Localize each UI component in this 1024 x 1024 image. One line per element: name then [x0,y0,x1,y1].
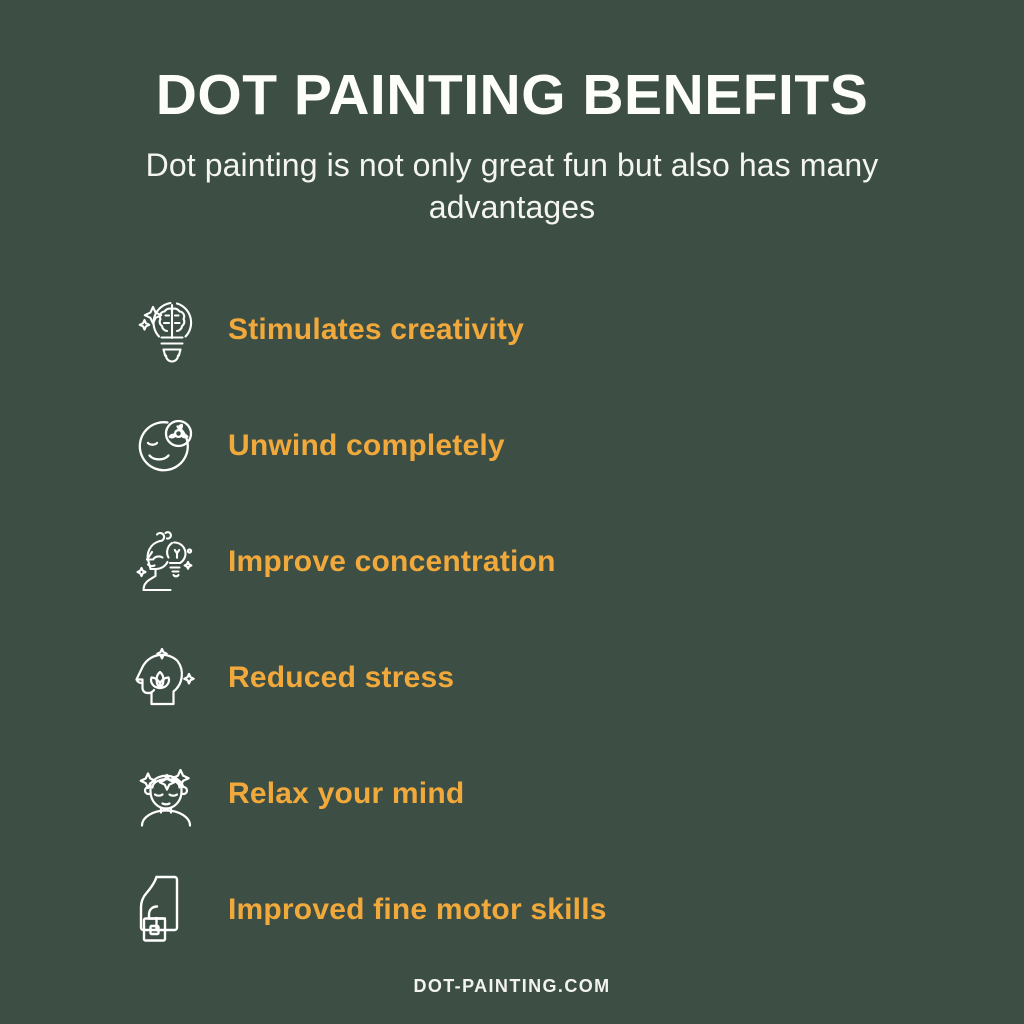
list-item-label: Stimulates creativity [228,315,524,345]
smiling-face-flower-icon [133,406,201,486]
footer-website[interactable]: DOT-PAINTING.COM [0,976,1024,997]
list-item: Improved fine motor skills [133,852,893,968]
list-item-label: Reduced stress [228,663,454,693]
head-profile-lotus-icon [133,638,201,718]
list-item: Improve concentration [133,504,893,620]
list-item: Relax your mind [133,736,893,852]
list-item-label: Relax your mind [228,779,464,809]
benefits-list: Stimulates creativity Unwind completely [133,272,893,968]
list-item: Reduced stress [133,620,893,736]
woman-face-stars-icon [133,754,201,834]
list-item-label: Improved fine motor skills [228,895,607,925]
list-item: Unwind completely [133,388,893,504]
head-profile-lightbulb-icon [133,522,201,602]
list-item-label: Unwind completely [228,431,505,461]
page-subtitle: Dot painting is not only great fun but a… [142,144,882,228]
hand-holding-stylus-icon [133,870,201,950]
list-item: Stimulates creativity [133,272,893,388]
poster-canvas: DOT PAINTING BENEFITS Dot painting is no… [0,0,1024,1024]
list-item-label: Improve concentration [228,547,556,577]
brain-lightbulb-sparkle-icon [133,290,201,370]
page-title: DOT PAINTING BENEFITS [156,66,868,126]
